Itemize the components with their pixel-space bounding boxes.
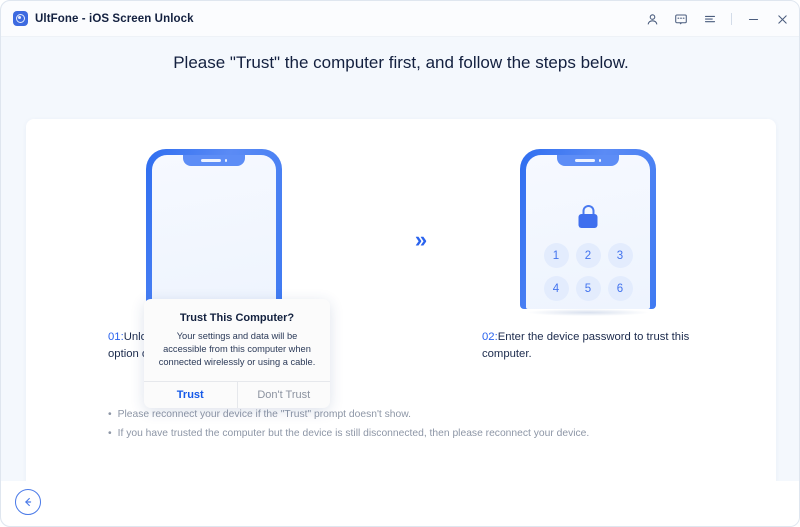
- menu-icon[interactable]: [702, 11, 718, 27]
- window-title: UltFone - iOS Screen Unlock: [35, 13, 194, 25]
- step-number: 02:: [482, 331, 498, 343]
- phone-illustration-left: [146, 149, 282, 314]
- phone-screen: [152, 155, 276, 309]
- phone-illustration-right: 1 2 3 4 5 6: [520, 149, 656, 314]
- step-text: Enter the device password to trust this …: [482, 331, 689, 360]
- phone-notch: [557, 155, 619, 166]
- keypad-key[interactable]: 5: [576, 276, 601, 301]
- keypad-key[interactable]: 4: [544, 276, 569, 301]
- keypad-key[interactable]: 2: [576, 243, 601, 268]
- title-bar-actions: [644, 1, 790, 37]
- note-text: If you have trusted the computer but the…: [118, 424, 590, 443]
- phone-body: [146, 149, 282, 309]
- keypad-key[interactable]: 6: [608, 276, 633, 301]
- speaker-bar-icon: [575, 159, 595, 162]
- trust-dialog-title: Trust This Computer?: [157, 312, 317, 324]
- content-card: Trust This Computer? Your settings and d…: [26, 119, 776, 483]
- bullet-icon: •: [108, 424, 112, 443]
- back-button[interactable]: [15, 489, 41, 515]
- keypad-key[interactable]: 3: [608, 243, 633, 268]
- trust-dialog-actions: Trust Don't Trust: [144, 381, 330, 408]
- brand: UltFone - iOS Screen Unlock: [13, 11, 194, 26]
- page-title: Please "Trust" the computer first, and f…: [1, 49, 800, 76]
- camera-dot-icon: [225, 159, 228, 162]
- step-caption-2: 02:Enter the device password to trust th…: [482, 329, 707, 363]
- step-number: 01:: [108, 331, 124, 343]
- phone-shadow: [528, 309, 648, 316]
- phone-notch: [183, 155, 245, 166]
- trust-button[interactable]: Trust: [144, 382, 237, 408]
- phone-screen: 1 2 3 4 5 6: [526, 155, 650, 309]
- trust-dialog-message: Your settings and data will be accessibl…: [157, 330, 317, 369]
- bullet-icon: •: [108, 405, 112, 424]
- account-icon[interactable]: [644, 11, 660, 27]
- minimize-icon[interactable]: [745, 11, 761, 27]
- steps-illustration: Trust This Computer? Your settings and d…: [26, 119, 776, 369]
- speaker-bar-icon: [201, 159, 221, 162]
- trust-dialog-body: Trust This Computer? Your settings and d…: [144, 299, 330, 381]
- note-item: • If you have trusted the computer but t…: [108, 424, 728, 443]
- chevron-right-double-icon: »: [401, 226, 441, 254]
- titlebar-divider: [731, 13, 732, 25]
- notes-list: • Please reconnect your device if the "T…: [108, 405, 728, 443]
- ultfone-logo-icon: [13, 11, 28, 26]
- phone-body: 1 2 3 4 5 6: [520, 149, 656, 309]
- camera-dot-icon: [599, 159, 602, 162]
- dont-trust-button[interactable]: Don't Trust: [237, 382, 331, 408]
- app-window: UltFone - iOS Screen Unlock: [0, 0, 800, 527]
- lock-icon: [579, 205, 598, 228]
- footer-bar: [1, 481, 800, 526]
- feedback-icon[interactable]: [673, 11, 689, 27]
- keypad-key[interactable]: 1: [544, 243, 569, 268]
- close-icon[interactable]: [774, 11, 790, 27]
- passcode-keypad: 1 2 3 4 5 6: [540, 243, 636, 301]
- trust-dialog: Trust This Computer? Your settings and d…: [144, 299, 330, 408]
- title-bar: UltFone - iOS Screen Unlock: [1, 1, 800, 37]
